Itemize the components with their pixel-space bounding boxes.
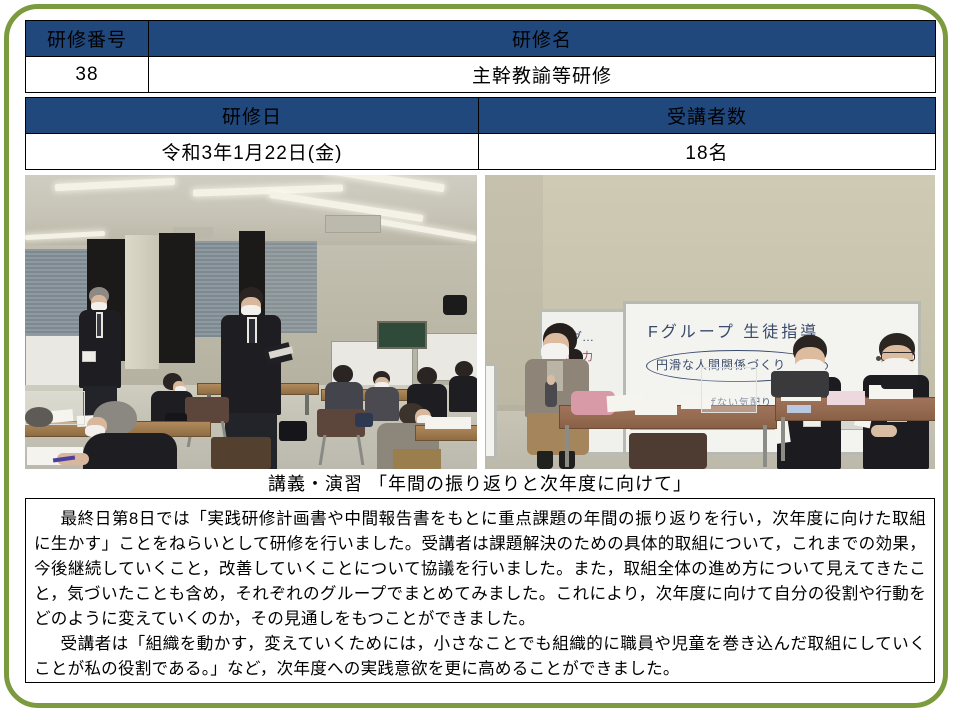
value-training-number: 38	[26, 57, 149, 93]
training-info-table-bottom: 研修日 受講者数 令和3年1月22日(金) 18名	[25, 97, 936, 170]
photo-caption: 講義・演習 「年間の振り返りと次年度に向けて」	[25, 471, 935, 497]
person-foreground-left	[79, 401, 185, 469]
header-training-date: 研修日	[26, 98, 479, 134]
pencil-case	[787, 405, 811, 413]
desk-leg	[763, 425, 767, 467]
photo-row: C グ… 思考力 ・年度… ・話し合い Fグループ 生徒指導 円滑な人間関係づく…	[25, 175, 935, 469]
chair	[629, 433, 707, 469]
face-mask	[881, 358, 913, 376]
boot	[537, 451, 553, 469]
value-training-name: 主幹教諭等研修	[149, 57, 936, 93]
name-badge	[82, 351, 96, 362]
header-training-name: 研修名	[149, 21, 936, 57]
desk-leg	[781, 417, 785, 461]
chair	[185, 397, 229, 423]
acrylic-shield	[701, 367, 757, 413]
chair	[211, 437, 271, 469]
chair	[771, 371, 829, 397]
page-content: 研修番号 研修名 38 主幹教諭等研修 研修日 受講者数 令和3年1月22日(金…	[25, 20, 935, 710]
whiteboard-edge	[485, 363, 497, 459]
hands	[871, 425, 897, 437]
description-textbox: 最終日第8日では「実践研修計画書や中間報告書をもとに重点課題の年間の振り返りを行…	[25, 498, 935, 683]
header-participant-count: 受講者数	[479, 98, 936, 134]
chalkboard	[377, 321, 427, 349]
necktie	[249, 319, 255, 343]
hair	[25, 407, 53, 427]
hand	[547, 375, 555, 385]
table-row: 38 主幹教諭等研修	[26, 57, 936, 93]
photo-lecture-room	[25, 175, 477, 469]
value-training-date: 令和3年1月22日(金)	[26, 134, 479, 170]
paper	[425, 417, 471, 429]
bag	[279, 421, 307, 441]
desk-leg	[305, 393, 309, 415]
table-row: 令和3年1月22日(金) 18名	[26, 134, 936, 170]
description-paragraph-1: 最終日第8日では「実践研修計画書や中間報告書をもとに重点課題の年間の振り返りを行…	[34, 506, 926, 631]
paper	[827, 391, 865, 405]
hair	[455, 361, 473, 377]
photo-whiteboard-presentation: C グ… 思考力 ・年度… ・話し合い Fグループ 生徒指導 円滑な人間関係づく…	[485, 175, 935, 469]
description-paragraph-2: 受講者は「組織を動かす，変えていくためには，小さなことでも組織的に職員や児童を巻…	[34, 631, 926, 681]
hair	[417, 367, 437, 385]
header-training-number: 研修番号	[26, 21, 149, 57]
desk-leg	[565, 425, 569, 467]
ceiling-vent	[325, 215, 381, 233]
curtain	[159, 233, 195, 363]
bag	[355, 413, 373, 427]
value-participant-count: 18名	[479, 134, 936, 170]
table-row: 研修日 受講者数	[26, 98, 936, 134]
bag	[881, 375, 917, 389]
skirt	[393, 449, 441, 469]
report-page: 研修番号 研修名 38 主幹教諭等研修 研修日 受講者数 令和3年1月22日(金…	[0, 0, 960, 720]
paper	[635, 401, 677, 415]
wall-pillar	[125, 235, 159, 369]
training-info-table-top: 研修番号 研修名 38 主幹教諭等研修	[25, 20, 936, 93]
whiteboard	[25, 335, 81, 389]
table-row: 研修番号 研修名	[26, 21, 936, 57]
wall-speaker	[443, 295, 467, 315]
hair	[333, 365, 353, 383]
necktie	[97, 314, 101, 336]
person-foreground-corner	[25, 407, 59, 437]
suit	[83, 433, 177, 469]
